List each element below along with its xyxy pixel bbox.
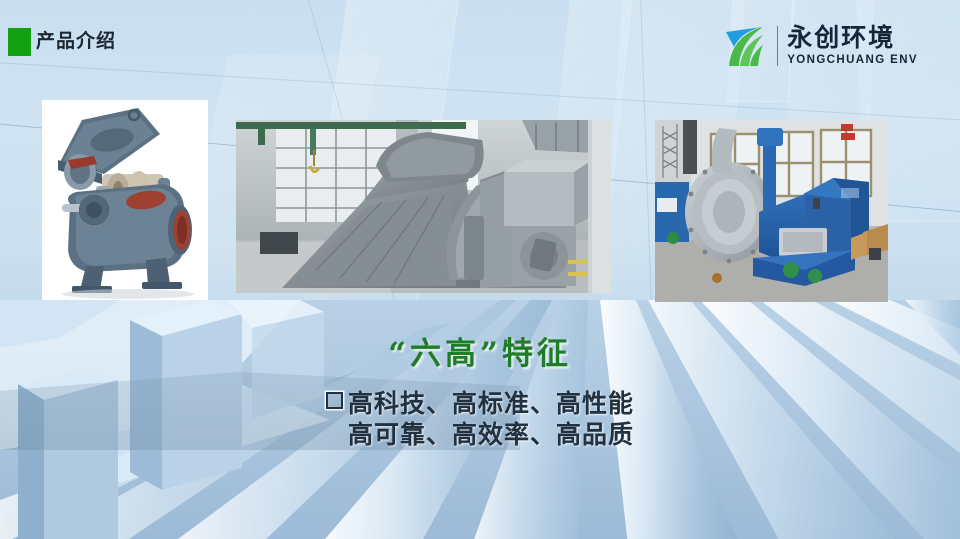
photo-split-case-pump [42,100,208,300]
bullet-line-1: 高科技、高标准、高性能 [0,388,960,419]
photo-industrial-plant [236,120,611,293]
logo-chinese-name: 永创环境 [787,26,918,51]
logo-text-group: 永创环境 YONGCHUANG ENV [787,26,918,67]
header-accent-square [8,28,31,56]
page-title: 产品介绍 [36,27,116,57]
logo-english-name: YONGCHUANG ENV [787,55,918,67]
logo-mark-svg [722,23,768,69]
photo-blue-blower-unit [655,120,888,302]
slide-canvas: 产品介绍 永创环境 YONGCHUANG ENV [0,0,960,539]
plant-photo-svg [236,120,611,293]
blue-blower-photo-svg [655,120,888,302]
company-logo: 永创环境 YONGCHUANG ENV [722,23,918,69]
square-bullet-icon [326,392,343,409]
bullet-line-1-text: 高科技、高标准、高性能 [348,389,634,418]
leaf-swoosh-logo-icon [722,23,768,69]
bullet-line-2: 高可靠、高效率、高品质 [0,419,960,450]
feature-bullet-list: 高科技、高标准、高性能 高可靠、高效率、高品质 [0,388,960,450]
logo-divider [777,26,778,66]
bullet-line-2-text: 高可靠、高效率、高品质 [348,420,634,449]
pump-photo-svg [42,100,208,300]
slide-header: 产品介绍 永创环境 YONGCHUANG ENV [0,0,960,92]
